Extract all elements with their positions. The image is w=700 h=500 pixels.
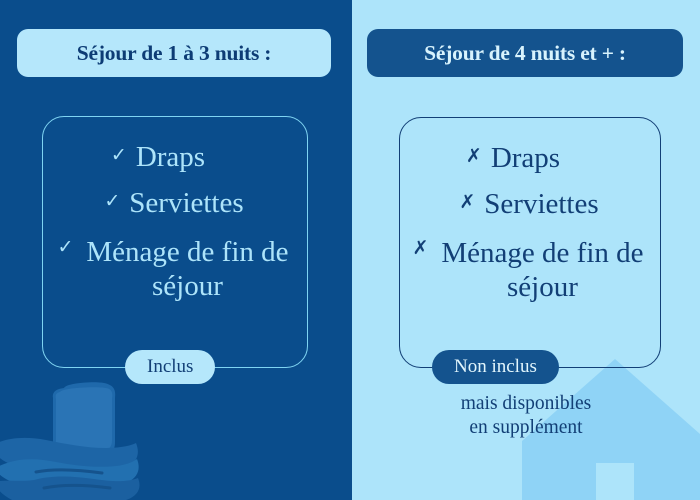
list-item: ✓ Serviettes bbox=[55, 189, 295, 218]
panel-long-stay: Séjour de 4 nuits et + : ✗ Draps ✗ Servi… bbox=[352, 0, 700, 500]
status-badge-included: Inclus bbox=[125, 350, 215, 384]
check-icon: ✓ bbox=[111, 143, 127, 169]
list-item: ✓ Draps bbox=[55, 143, 295, 172]
list-item-label: Ménage de fin de séjour bbox=[82, 235, 292, 303]
cross-icon: ✗ bbox=[413, 236, 429, 262]
cross-icon: ✗ bbox=[466, 144, 482, 170]
list-item: ✗ Serviettes bbox=[412, 190, 648, 219]
stay-inclusions-infographic: Séjour de 1 à 3 nuits : ✓ Draps ✓ Servie… bbox=[0, 0, 700, 500]
list-item: ✗ Draps bbox=[412, 144, 648, 173]
list-item: ✓ Ménage de fin de séjour bbox=[55, 235, 295, 303]
list-item-label: Draps bbox=[491, 144, 560, 173]
check-icon: ✓ bbox=[58, 235, 74, 261]
check-icon: ✓ bbox=[104, 189, 120, 215]
inclusions-list-short-stay: ✓ Draps ✓ Serviettes ✓ Ménage de fin de … bbox=[43, 143, 307, 320]
exclusions-list-long-stay: ✗ Draps ✗ Serviettes ✗ Ménage de fin de … bbox=[400, 144, 660, 321]
list-item-label: Draps bbox=[136, 143, 205, 172]
list-item: ✗ Ménage de fin de séjour bbox=[412, 236, 648, 304]
folded-towels-and-pillow-icon bbox=[0, 380, 204, 500]
exclusions-box-long-stay: ✗ Draps ✗ Serviettes ✗ Ménage de fin de … bbox=[399, 117, 661, 368]
supplement-caption: mais disponibles en supplément bbox=[352, 392, 700, 441]
status-badge-not-included: Non inclus bbox=[432, 350, 559, 384]
panel-header-long-stay: Séjour de 4 nuits et + : bbox=[367, 29, 683, 77]
supplement-caption-line-2: en supplément bbox=[352, 416, 700, 440]
panel-short-stay: Séjour de 1 à 3 nuits : ✓ Draps ✓ Servie… bbox=[0, 0, 352, 500]
panel-header-short-stay: Séjour de 1 à 3 nuits : bbox=[17, 29, 331, 77]
list-item-label: Ménage de fin de séjour bbox=[437, 236, 647, 304]
cross-icon: ✗ bbox=[459, 190, 475, 216]
inclusions-box-short-stay: ✓ Draps ✓ Serviettes ✓ Ménage de fin de … bbox=[42, 116, 308, 368]
list-item-label: Serviettes bbox=[484, 190, 598, 219]
supplement-caption-line-1: mais disponibles bbox=[352, 392, 700, 416]
list-item-label: Serviettes bbox=[129, 189, 243, 218]
